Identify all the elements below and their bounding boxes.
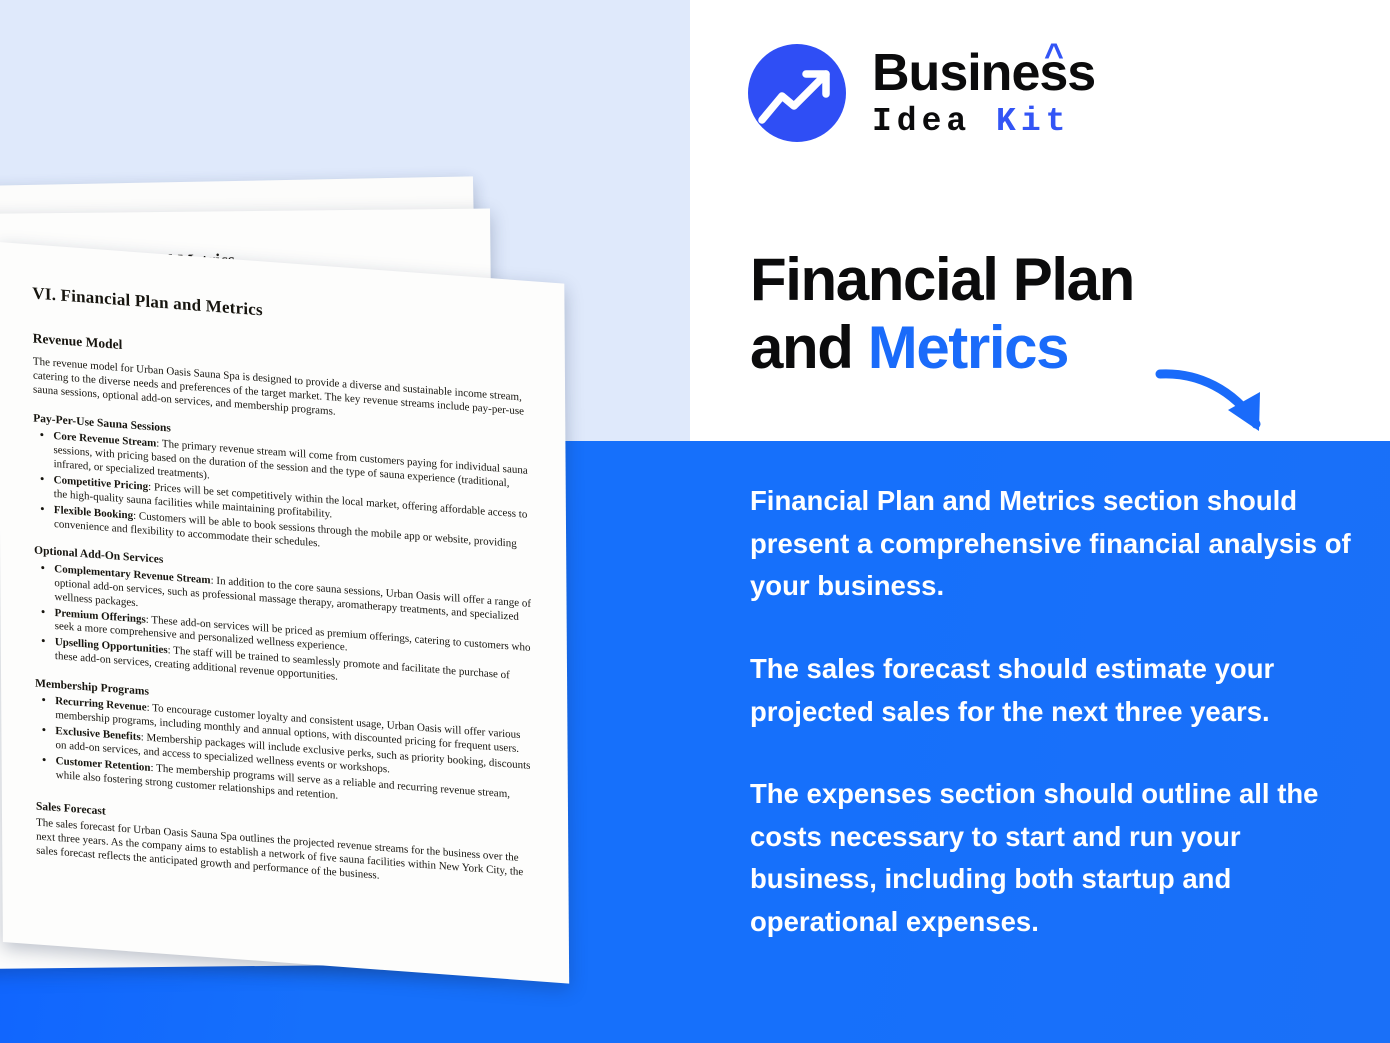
page-title-line-2-prefix: and: [750, 314, 868, 381]
description-paragraph-2: The sales forecast should estimate your …: [750, 648, 1360, 733]
document-stack: VI. Financial Plan and Metrics Revenue M…: [0, 186, 738, 1016]
page-title-accent-word: Metrics: [868, 314, 1068, 381]
brand-word-kit: Kit: [996, 103, 1070, 140]
brand-wordmark: Business ^ Idea Kit: [872, 48, 1095, 138]
description-block: Financial Plan and Metrics section shoul…: [750, 480, 1360, 944]
brand-logo: Business ^ Idea Kit: [748, 44, 1095, 142]
brand-line-business: Business ^: [872, 48, 1095, 99]
brand-line-idea-kit: Idea Kit: [872, 105, 1095, 138]
growth-arrow-circle-icon: [748, 44, 846, 142]
document-body: VI. Financial Plan and Metrics Revenue M…: [0, 242, 569, 984]
curved-down-right-arrow-icon: [1150, 352, 1290, 457]
circumflex-accent-icon: ^: [1044, 39, 1063, 73]
document-title: VI. Financial Plan and Metrics: [32, 282, 530, 340]
brand-word-idea: Idea: [872, 103, 971, 140]
description-paragraph-3: The expenses section should outline all …: [750, 773, 1360, 944]
description-paragraph-1: Financial Plan and Metrics section shoul…: [750, 480, 1360, 608]
document-page-front: VI. Financial Plan and Metrics Revenue M…: [0, 242, 569, 984]
page-title-line-1: Financial Plan: [750, 246, 1270, 314]
